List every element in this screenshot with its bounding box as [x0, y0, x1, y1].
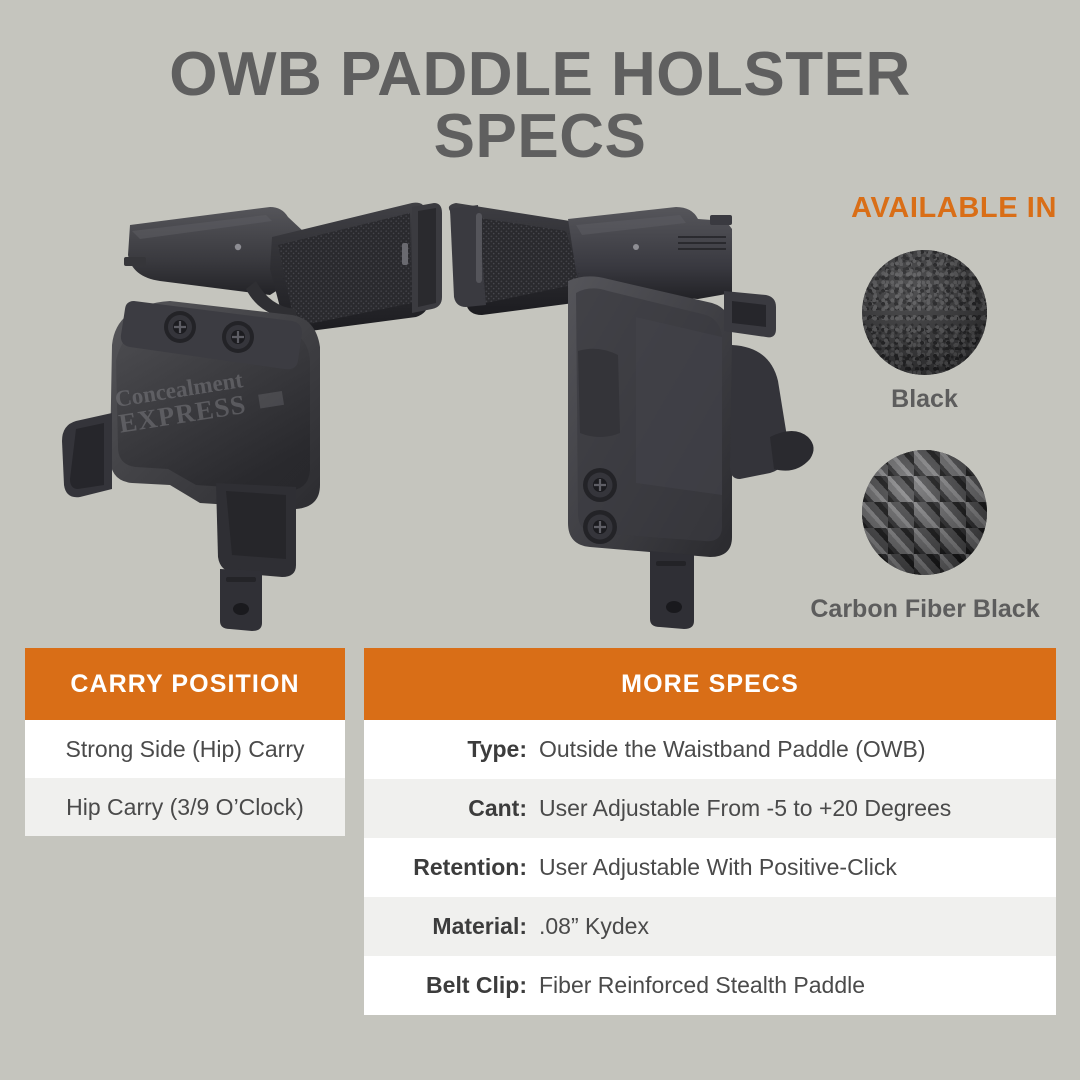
carry-position-header: CARRY POSITION — [25, 648, 345, 720]
carry-position-value-1: Strong Side (Hip) Carry — [65, 736, 304, 763]
spec-label-retention: Retention: — [384, 854, 539, 881]
carry-position-row-1: Strong Side (Hip) Carry — [25, 720, 345, 778]
swatch-circle-black — [862, 250, 987, 375]
infographic-page: OWB PADDLE HOLSTER SPECS — [0, 0, 1080, 1080]
spec-row-type: Type: Outside the Waistband Paddle (OWB) — [364, 720, 1056, 779]
texture-black-kydex — [862, 250, 987, 375]
spec-row-cant: Cant: User Adjustable From -5 to +20 Deg… — [364, 779, 1056, 838]
swatch-label-carbon-fiber-black: Carbon Fiber Black — [794, 595, 1056, 624]
holster-image-front: Concealment EXPRESS — [20, 185, 450, 635]
spec-row-material: Material: .08” Kydex — [364, 897, 1056, 956]
spec-label-material: Material: — [384, 913, 539, 940]
spec-row-belt-clip: Belt Clip: Fiber Reinforced Stealth Padd… — [364, 956, 1056, 1015]
more-specs-table: MORE SPECS Type: Outside the Waistband P… — [364, 648, 1056, 1015]
more-specs-header: MORE SPECS — [364, 648, 1056, 720]
holster-image-rear — [440, 185, 830, 635]
spec-value-belt-clip: Fiber Reinforced Stealth Paddle — [539, 972, 865, 999]
page-title-line-1: OWB PADDLE HOLSTER — [169, 40, 911, 109]
page-title-line-2: SPECS — [0, 106, 1080, 168]
spec-label-cant: Cant: — [384, 795, 539, 822]
carry-position-value-2: Hip Carry (3/9 O’Clock) — [66, 794, 304, 821]
color-swatch-carbon-fiber-black[interactable]: Carbon Fiber Black — [862, 450, 987, 575]
carry-position-table: CARRY POSITION Strong Side (Hip) Carry H… — [25, 648, 345, 836]
spec-label-belt-clip: Belt Clip: — [384, 972, 539, 999]
holster-front-illustration: Concealment EXPRESS — [20, 185, 450, 635]
page-title: OWB PADDLE HOLSTER SPECS — [0, 44, 1080, 168]
spec-value-retention: User Adjustable With Positive-Click — [539, 854, 897, 881]
swatch-circle-carbon-fiber — [862, 450, 987, 575]
spec-value-cant: User Adjustable From -5 to +20 Degrees — [539, 795, 951, 822]
carry-position-row-2: Hip Carry (3/9 O’Clock) — [25, 778, 345, 836]
holster-rear-illustration — [440, 185, 830, 635]
color-swatch-black[interactable]: Black — [862, 250, 987, 414]
available-in-heading: AVAILABLE IN — [851, 192, 1057, 225]
spec-value-type: Outside the Waistband Paddle (OWB) — [539, 736, 926, 763]
spec-row-retention: Retention: User Adjustable With Positive… — [364, 838, 1056, 897]
texture-carbon-fiber-twill — [862, 450, 987, 575]
spec-value-material: .08” Kydex — [539, 913, 649, 940]
swatch-label-black: Black — [862, 385, 987, 414]
spec-label-type: Type: — [384, 736, 539, 763]
